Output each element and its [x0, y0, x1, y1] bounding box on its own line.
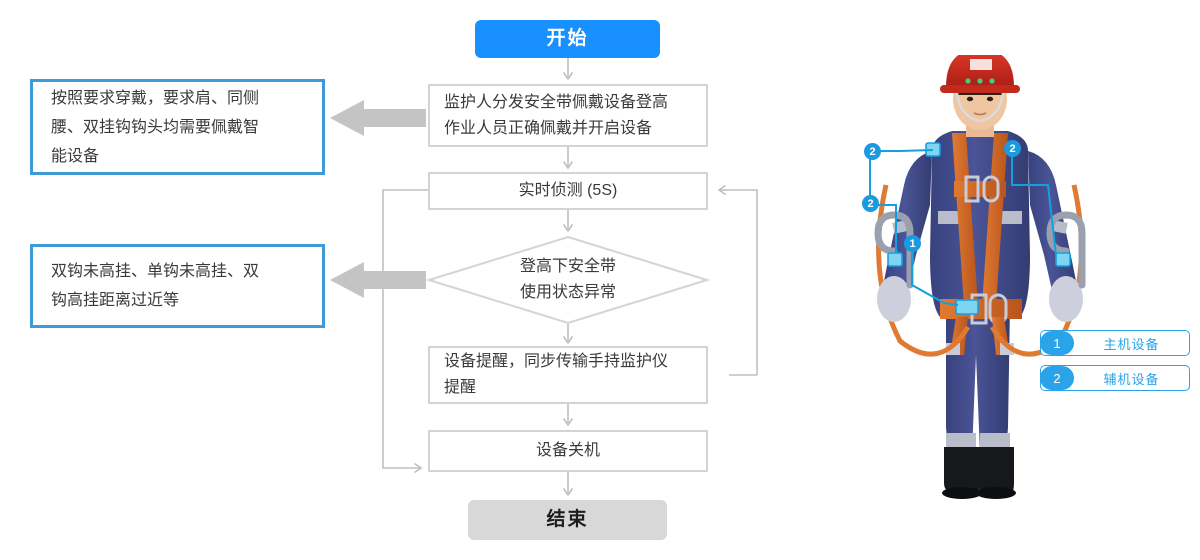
- flow-node-decision-abnormal[interactable]: 登高下安全带 使用状态异常: [428, 236, 708, 324]
- flow-node-device-alert[interactable]: 设备提醒，同步传输手持监护仪 提醒: [428, 346, 708, 404]
- photo-marker-label: 1: [904, 235, 921, 252]
- connector-loop-alert-to-detect: [706, 183, 762, 383]
- photo-marker-1-waist: 1: [904, 235, 921, 252]
- legend-item-auxiliary-device[interactable]: 2 辅机设备: [1040, 365, 1190, 391]
- connector-start-to-dispatch: [560, 58, 576, 84]
- photo-marker-2-right-hand: 2: [1004, 140, 1021, 157]
- flow-node-end[interactable]: 结束: [468, 500, 667, 540]
- legend-label-host-device: 主机设备: [1074, 334, 1189, 353]
- legend-item-host-device[interactable]: 1 主机设备: [1040, 330, 1190, 356]
- connector-alert-to-shutdown: [560, 404, 576, 430]
- photo-marker-label: 2: [862, 195, 879, 212]
- decision-label: 登高下安全带 使用状态异常: [428, 236, 708, 324]
- photo-marker-label: 2: [864, 143, 881, 160]
- connector-decision-to-alert: [560, 324, 576, 348]
- worker-harness-photo: 2 2 2 1: [860, 55, 1100, 505]
- flow-node-realtime-detect[interactable]: 实时侦测 (5S): [428, 172, 708, 210]
- connector-detect-to-decision: [560, 210, 576, 236]
- photo-marker-label: 2: [1004, 140, 1021, 157]
- legend-badge-2: 2: [1040, 366, 1074, 390]
- device-legend: 1 主机设备 2 辅机设备: [1040, 330, 1190, 400]
- note-abnormal-cases: 双钩未高挂、单钩未高挂、双 钩高挂距离过近等: [30, 244, 325, 328]
- legend-badge-1: 1: [1040, 331, 1074, 355]
- photo-marker-2-left-shoulder: 2: [862, 195, 879, 212]
- connector-shutdown-to-end: [560, 472, 576, 500]
- legend-label-auxiliary-device: 辅机设备: [1074, 369, 1189, 388]
- flow-node-dispatch[interactable]: 监护人分发安全带佩戴设备登高 作业人员正确佩戴并开启设备: [428, 84, 708, 147]
- flowchart-canvas: 开始 监护人分发安全带佩戴设备登高 作业人员正确佩戴并开启设备 实时侦测 (5S…: [0, 0, 1200, 560]
- block-arrow-to-abnormal-note: [330, 262, 426, 303]
- flow-node-start[interactable]: 开始: [475, 20, 660, 58]
- photo-marker-2-left-hand: 2: [864, 143, 881, 160]
- connector-dispatch-to-detect: [560, 147, 576, 173]
- block-arrow-to-wear-note: [330, 100, 426, 141]
- note-wear-requirement: 按照要求穿戴，要求肩、同侧 腰、双挂钩钩头均需要佩戴智 能设备: [30, 79, 325, 175]
- connector-loop-detect-to-shutdown: [378, 183, 434, 473]
- flow-node-device-shutdown[interactable]: 设备关机: [428, 430, 708, 472]
